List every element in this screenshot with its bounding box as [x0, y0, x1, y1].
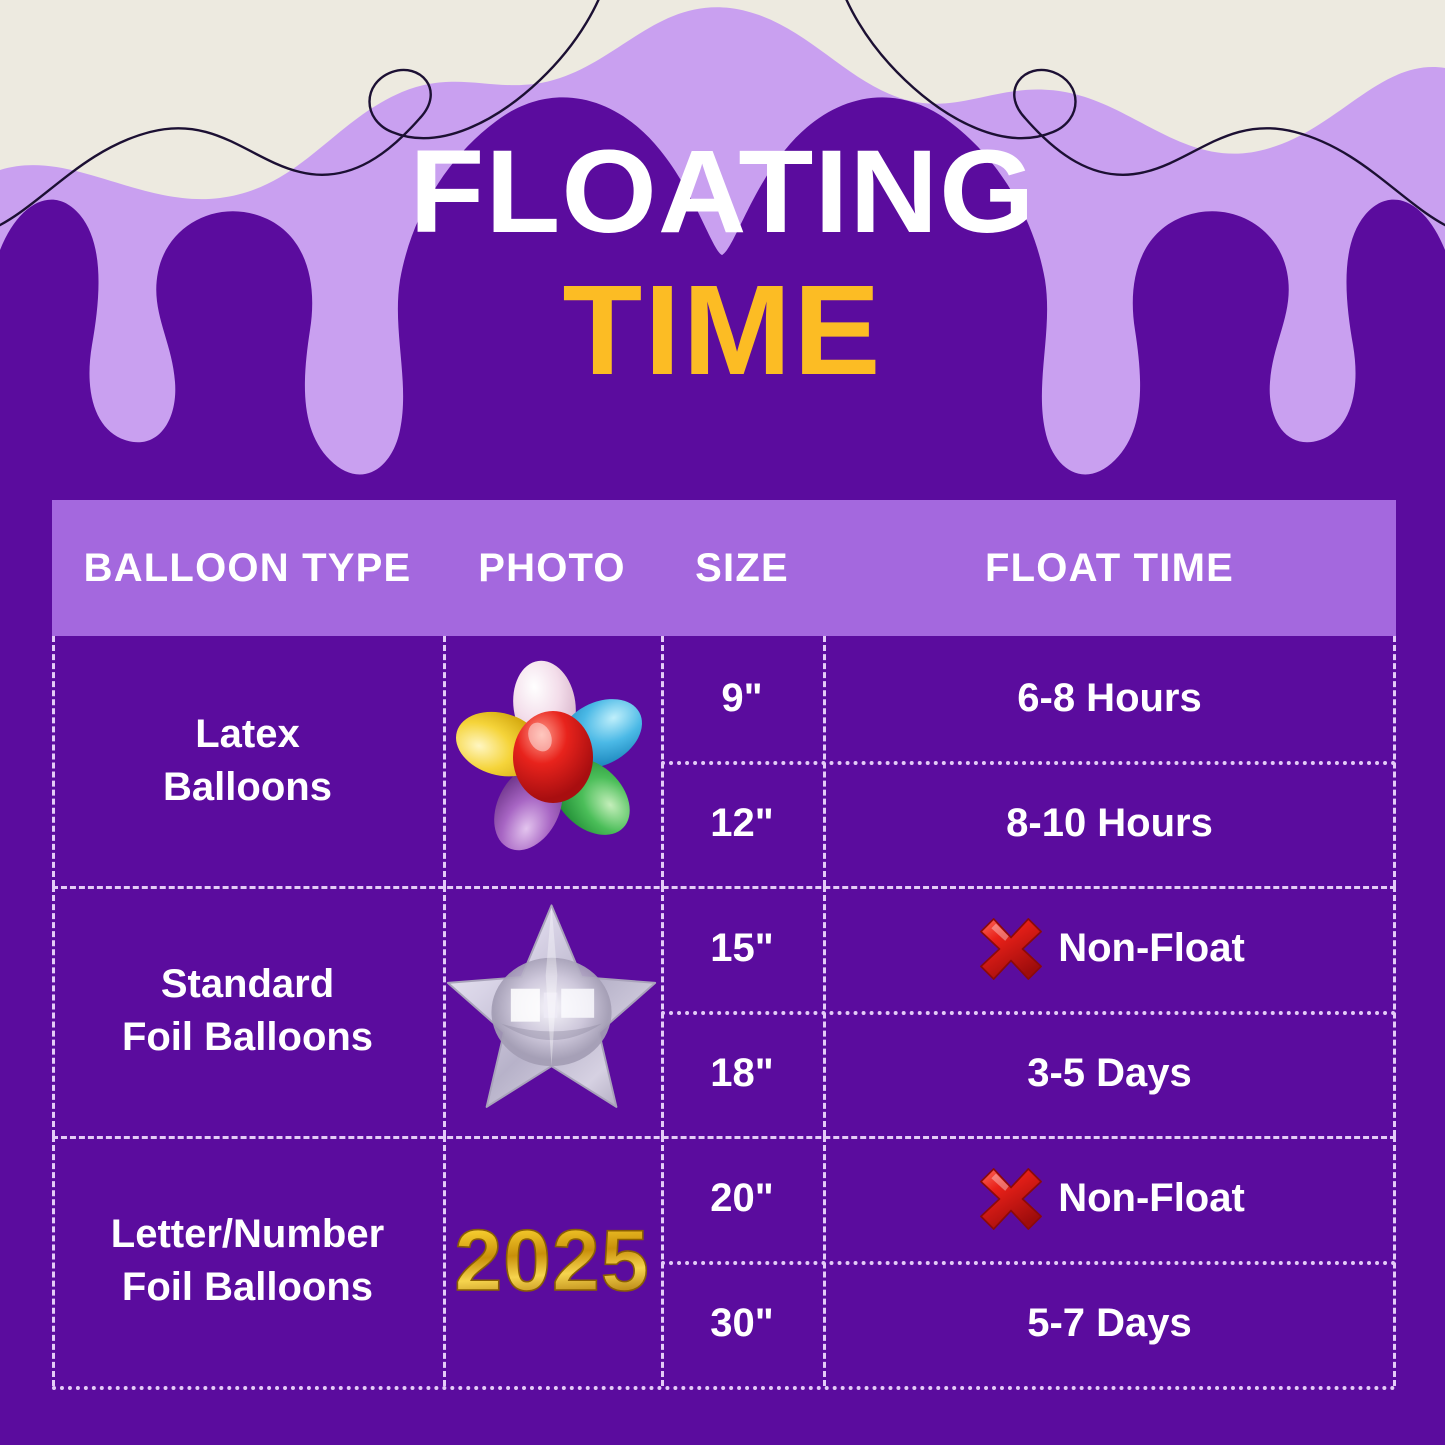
size-value: 18": [661, 1011, 823, 1136]
float-time-value: 6-8 Hours: [823, 636, 1396, 761]
balloon-type-label: Letter/Number Foil Balloons: [103, 1208, 392, 1314]
table-row: Standard Foil Balloons: [52, 886, 1396, 1136]
table-header-row: BALLOON TYPE PHOTO SIZE FLOAT TIME: [52, 500, 1396, 636]
cell-photo: [443, 886, 661, 1136]
cell-balloon-type: Letter/Number Foil Balloons: [52, 1136, 443, 1386]
latex-balloon-cluster-photo: [443, 636, 661, 886]
balloon-type-line-2: Foil Balloons: [122, 1015, 373, 1059]
balloon-type-line-2: Balloons: [163, 765, 332, 809]
float-time-value: 8-10 Hours: [823, 761, 1396, 886]
gold-2025-number-foil-balloons-photo: 2025: [443, 1136, 661, 1386]
column-header-balloon-type: BALLOON TYPE: [52, 546, 443, 591]
balloon-type-line-1: Latex: [195, 712, 300, 756]
size-value: 9": [661, 636, 823, 761]
red-cross-mark-icon: [974, 912, 1048, 986]
title-line-floating: FLOATING: [0, 138, 1445, 247]
column-header-photo: PHOTO: [443, 546, 661, 591]
balloon-number-text: 2025: [454, 1213, 649, 1309]
float-time-value: 3-5 Days: [823, 1011, 1396, 1136]
balloon-type-line-1: Standard: [161, 962, 334, 1006]
subrow-divider: [661, 761, 1396, 765]
table-row: Latex Balloons: [52, 636, 1396, 886]
balloon-type-label: Latex Balloons: [155, 708, 340, 814]
cell-balloon-type: Standard Foil Balloons: [52, 886, 443, 1136]
float-time-value: Non-Float: [823, 1136, 1396, 1261]
cell-photo: [443, 636, 661, 886]
table-bottom-border: [52, 1386, 1396, 1390]
table-body: Latex Balloons: [52, 636, 1396, 1386]
subrow-divider: [661, 1261, 1396, 1265]
size-value: 12": [661, 761, 823, 886]
cell-photo: 2025: [443, 1136, 661, 1386]
size-value: 20": [661, 1136, 823, 1261]
column-header-size: SIZE: [661, 546, 823, 591]
column-header-float-time: FLOAT TIME: [823, 546, 1396, 591]
cell-balloon-type: Latex Balloons: [52, 636, 443, 886]
subrow-divider: [661, 1011, 1396, 1015]
size-value: 15": [661, 886, 823, 1011]
title-line-time: TIME: [0, 267, 1445, 395]
red-cross-mark-icon: [974, 1162, 1048, 1236]
balloon-type-label: Standard Foil Balloons: [114, 958, 381, 1064]
float-time-table: BALLOON TYPE PHOTO SIZE FLOAT TIME Latex…: [52, 500, 1396, 1386]
balloon-type-line-2: Foil Balloons: [122, 1265, 373, 1309]
page-title: FLOATING TIME: [0, 138, 1445, 395]
table-row: Letter/Number Foil Balloons: [52, 1136, 1396, 1386]
size-value: 30": [661, 1261, 823, 1386]
float-time-value: 5-7 Days: [823, 1261, 1396, 1386]
balloon-type-line-1: Letter/Number: [111, 1212, 384, 1256]
silver-star-foil-balloon-photo: [443, 886, 661, 1136]
float-time-value: Non-Float: [823, 886, 1396, 1011]
